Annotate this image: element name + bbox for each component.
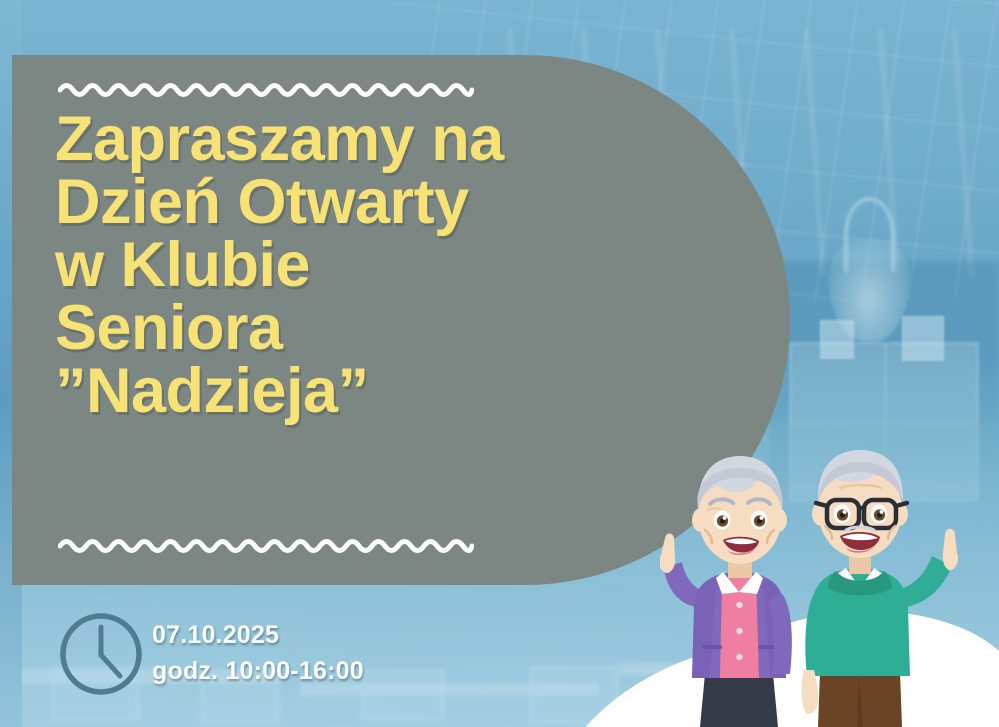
man-figure: [802, 450, 959, 727]
headline-line-2: Dzień Otwarty: [55, 171, 715, 234]
event-datetime-text: 07.10.2025 godz. 10:00-16:00: [152, 618, 364, 689]
clock-icon: [58, 608, 144, 703]
elderly-couple-illustration: [660, 442, 999, 727]
headline-line-3: w Klubie: [55, 234, 715, 297]
headline-line-1: Zapraszamy na: [55, 108, 715, 171]
picture-frame-right: [902, 316, 944, 361]
headline-line-5: ”Nadzieja”: [55, 360, 715, 423]
wavy-divider-top-icon: [58, 80, 474, 98]
event-date: 07.10.2025: [152, 618, 364, 654]
event-datetime-block: 07.10.2025 godz. 10:00-16:00: [58, 606, 478, 706]
poster-root: Zapraszamy na Dzień Otwarty w Klubie Sen…: [0, 0, 999, 727]
headline-line-4: Seniora: [55, 297, 715, 360]
wavy-divider-bottom-icon: [58, 536, 474, 554]
woman-figure: [660, 456, 792, 727]
page-title: Zapraszamy na Dzień Otwarty w Klubie Sen…: [55, 108, 715, 423]
event-time: godz. 10:00-16:00: [152, 654, 364, 690]
picture-frame-left: [820, 320, 854, 359]
